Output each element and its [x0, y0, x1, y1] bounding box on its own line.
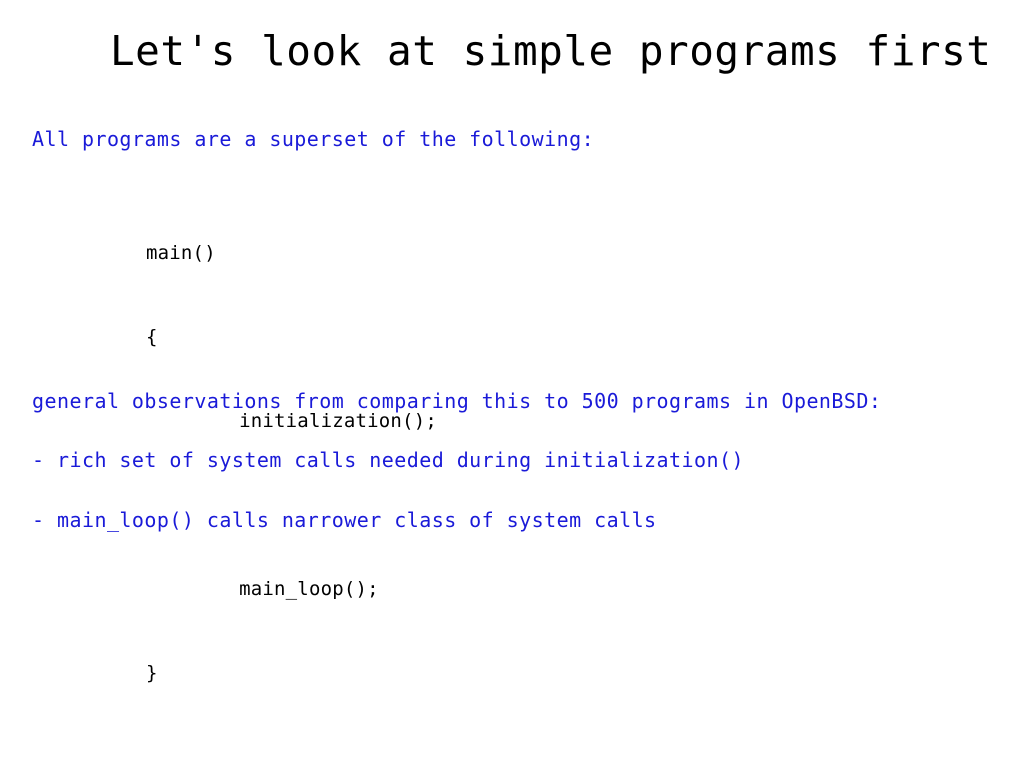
- code-line: main_loop();: [146, 575, 437, 603]
- bullet-item: - rich set of system calls needed during…: [32, 447, 744, 473]
- code-line: {: [146, 323, 437, 351]
- bullet-item: - main_loop() calls narrower class of sy…: [32, 507, 657, 533]
- page-title: Let's look at simple programs first: [110, 26, 991, 76]
- observations-heading: general observations from comparing this…: [32, 388, 881, 414]
- code-line: }: [146, 659, 437, 687]
- slide-canvas: Let's look at simple programs first All …: [0, 0, 1024, 768]
- intro-text: All programs are a superset of the follo…: [32, 126, 594, 152]
- code-line: main(): [146, 239, 437, 267]
